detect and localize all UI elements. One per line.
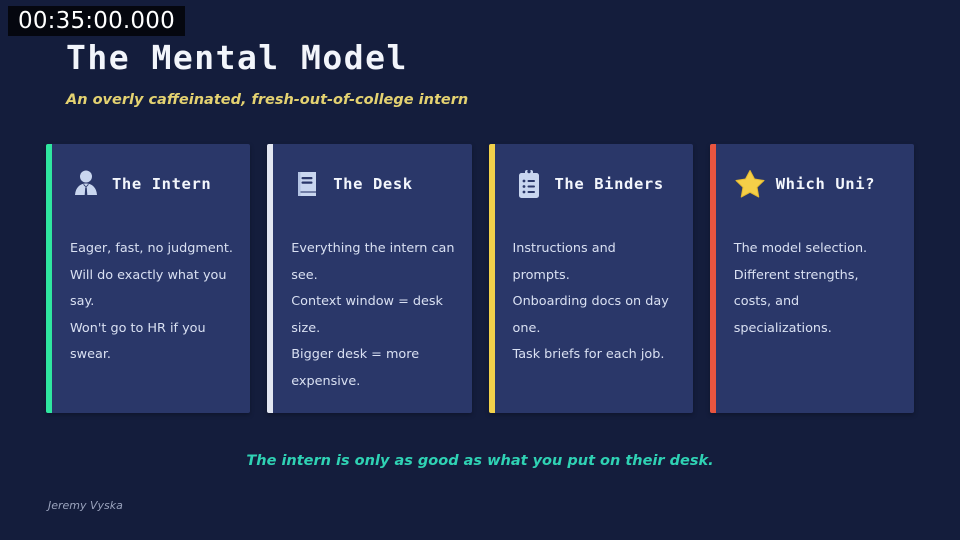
card-line: Task briefs for each job.	[513, 342, 677, 369]
card-the-intern[interactable]: The Intern Eager, fast, no judgment. Wil…	[46, 144, 250, 413]
card-header: The Desk	[291, 158, 455, 210]
attribution-text: Jeremy Vyska	[48, 498, 123, 514]
card-line: Everything the intern can see.	[291, 236, 455, 289]
card-header: The Intern	[70, 158, 234, 210]
card-the-binders[interactable]: The Binders Instructions and prompts. On…	[489, 144, 693, 413]
card-line: Different strengths, costs, and speciali…	[734, 263, 898, 343]
card-the-desk[interactable]: The Desk Everything the intern can see. …	[267, 144, 471, 413]
card-line: Eager, fast, no judgment.	[70, 236, 234, 263]
card-line-list: The model selection. Different strengths…	[734, 236, 898, 342]
card-line-list: Instructions and prompts. Onboarding doc…	[513, 236, 677, 369]
page-title: The Mental Model	[66, 38, 408, 78]
card-header: The Binders	[513, 158, 677, 210]
card-line-list: Everything the intern can see. Context w…	[291, 236, 455, 395]
recording-timestamp: 00:35:00.000	[8, 6, 185, 36]
card-line: Onboarding docs on day one.	[513, 289, 677, 342]
star-icon	[734, 167, 766, 201]
card-body: The Desk Everything the intern can see. …	[273, 144, 471, 413]
card-title: Which Uni?	[776, 174, 875, 195]
card-body: The Binders Instructions and prompts. On…	[495, 144, 693, 413]
card-line: The model selection.	[734, 236, 898, 263]
page-subtitle: An overly caffeinated, fresh-out-of-coll…	[66, 90, 468, 110]
card-body: Which Uni? The model selection. Differen…	[716, 144, 914, 413]
card-body: The Intern Eager, fast, no judgment. Wil…	[52, 144, 250, 413]
slide-canvas: 00:35:00.000 The Mental Model An overly …	[0, 0, 960, 540]
card-line: Won't go to HR if you swear.	[70, 316, 234, 369]
card-line: Instructions and prompts.	[513, 236, 677, 289]
card-line: Will do exactly what you say.	[70, 263, 234, 316]
punchline-text: The intern is only as good as what you p…	[0, 450, 960, 472]
card-line: Bigger desk = more expensive.	[291, 342, 455, 395]
card-row: The Intern Eager, fast, no judgment. Wil…	[46, 144, 914, 413]
clipboard-icon	[513, 167, 545, 201]
card-header: Which Uni?	[734, 158, 898, 210]
card-which-uni[interactable]: Which Uni? The model selection. Differen…	[710, 144, 914, 413]
card-title: The Binders	[555, 174, 664, 195]
card-line: Context window = desk size.	[291, 289, 455, 342]
card-line-list: Eager, fast, no judgment. Will do exactl…	[70, 236, 234, 369]
business-person-icon	[70, 167, 102, 201]
card-title: The Intern	[112, 174, 211, 195]
book-icon	[291, 167, 323, 201]
card-title: The Desk	[333, 174, 412, 195]
